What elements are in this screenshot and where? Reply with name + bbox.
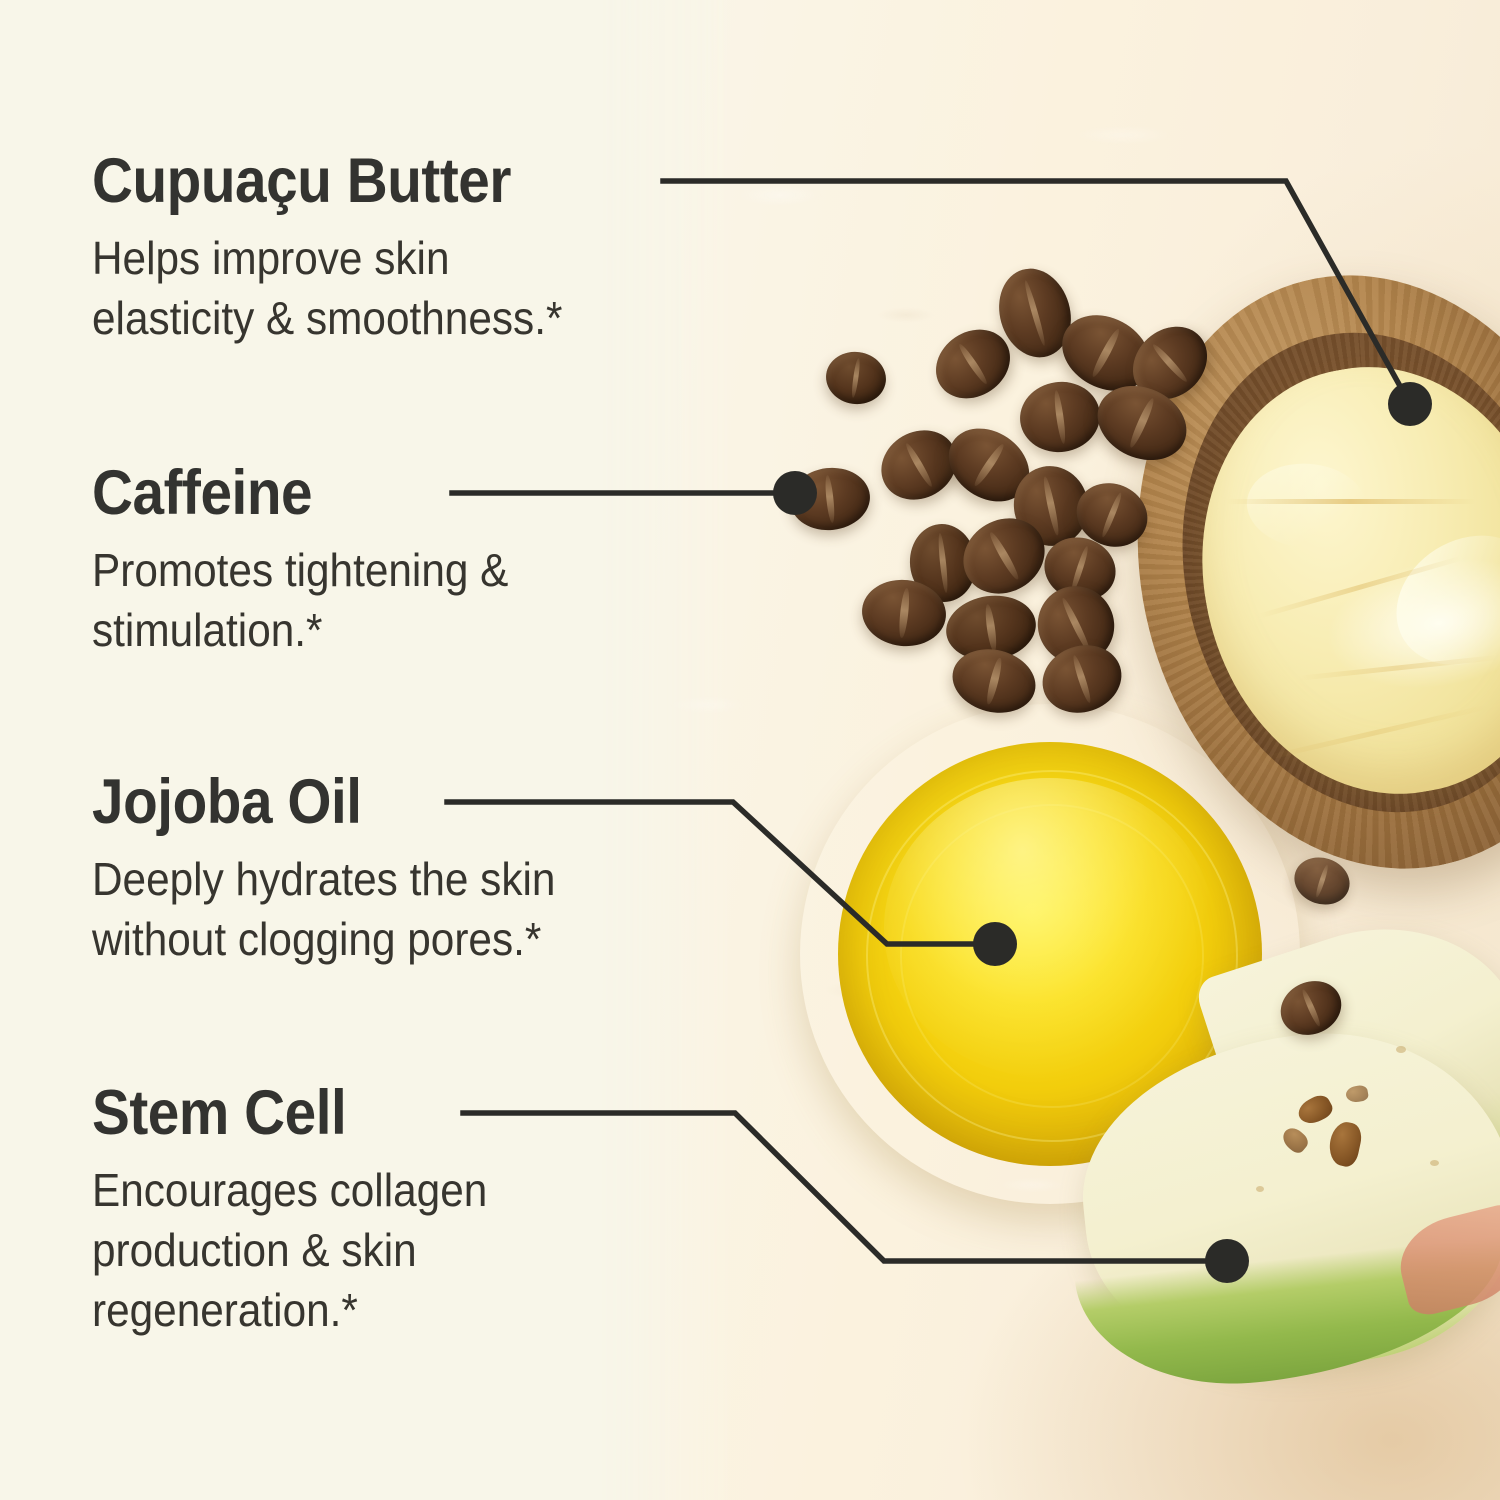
ingredient-description-caffeine: Promotes tightening & stimulation.* [92,541,508,661]
ingredient-block-stem-cell: Stem Cell Encourages collagen production… [92,1082,522,1340]
ingredient-description-cupuacu-butter: Helps improve skin elasticity & smoothne… [92,229,562,349]
ingredient-block-caffeine: Caffeine Promotes tightening & stimulati… [92,462,545,661]
ingredient-description-stem-cell: Encourages collagen production & skin re… [92,1161,487,1340]
ingredient-title-caffeine: Caffeine [92,462,499,525]
leader-line-stem-cell [463,1113,1227,1261]
ingredient-infographic: Cupuaçu Butter Helps improve skin elasti… [0,0,1500,1500]
ingredient-title-jojoba-oil: Jojoba Oil [92,771,545,834]
ingredient-block-jojoba-oil: Jojoba Oil Deeply hydrates the skin with… [92,771,596,970]
ingredient-title-cupuacu-butter: Cupuaçu Butter [92,150,552,213]
ingredient-description-jojoba-oil: Deeply hydrates the skin without cloggin… [92,850,555,970]
callout-dot-jojoba-oil [973,922,1017,966]
leader-line-cupuacu-butter [663,181,1410,404]
callout-dot-cupuacu-butter [1388,382,1432,426]
callout-dot-caffeine [773,471,817,515]
ingredient-block-cupuacu-butter: Cupuaçu Butter Helps improve skin elasti… [92,150,603,349]
ingredient-title-stem-cell: Stem Cell [92,1082,479,1145]
callout-dot-stem-cell [1205,1239,1249,1283]
